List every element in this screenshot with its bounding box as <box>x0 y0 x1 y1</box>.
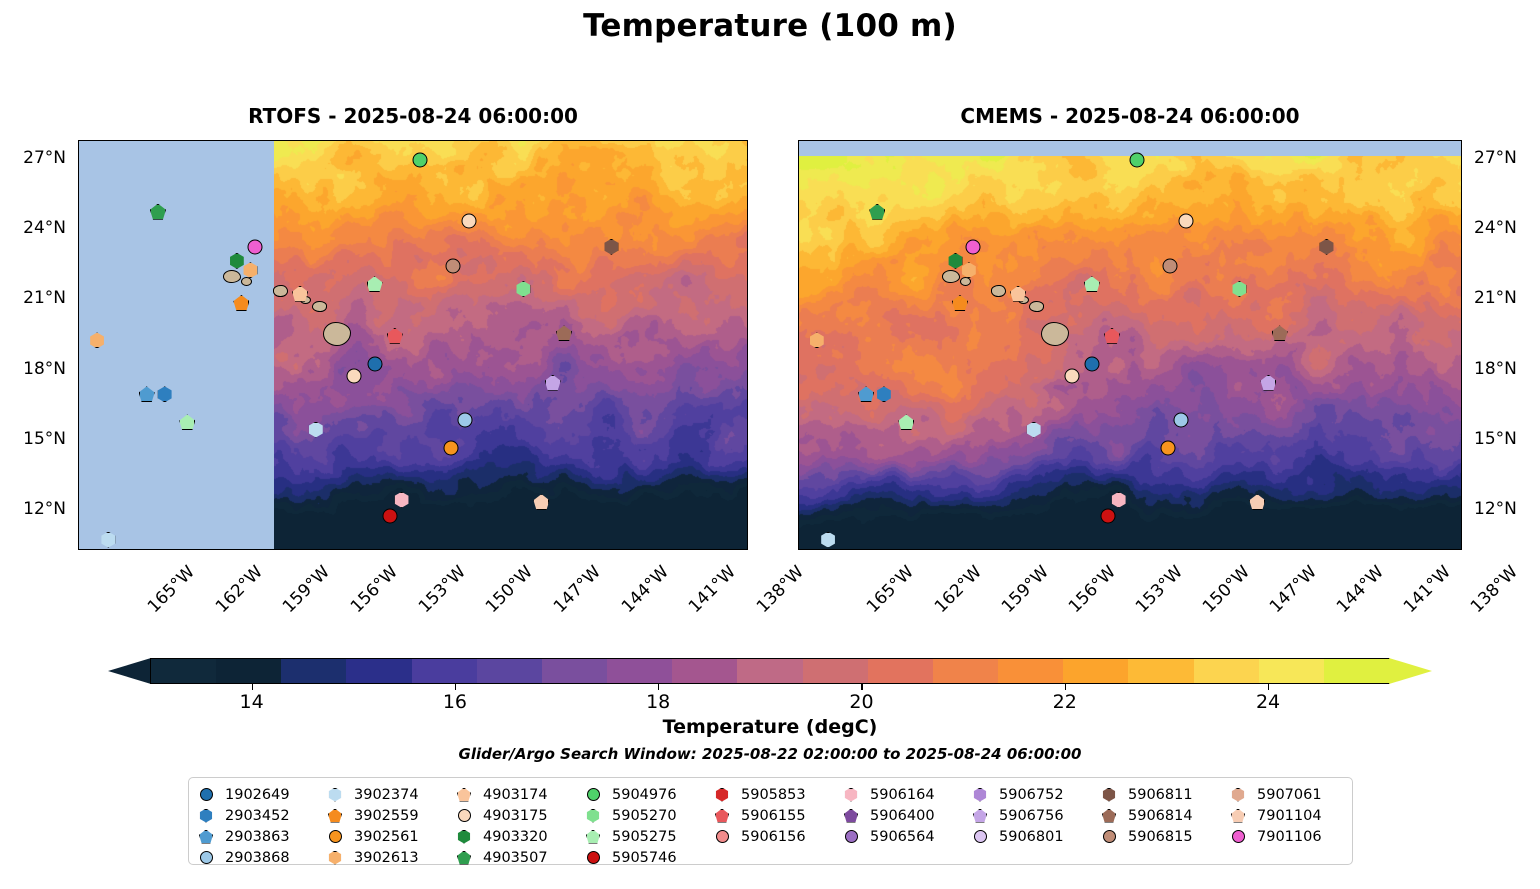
legend-item[interactable]: 5906811 <box>1100 784 1229 805</box>
legend-marker <box>842 809 860 823</box>
x-minor-tick <box>1201 549 1202 550</box>
platform-marker[interactable] <box>1084 356 1099 375</box>
x-minor-tick <box>733 549 734 550</box>
colorbar-band <box>1324 659 1389 683</box>
platform-marker[interactable] <box>809 332 825 352</box>
y-minor-tick <box>1461 182 1462 183</box>
legend-marker <box>842 830 860 843</box>
marker-pent <box>1102 809 1116 823</box>
x-minor-tick <box>888 140 889 141</box>
y-tick <box>798 159 799 161</box>
marker-circle <box>457 413 472 428</box>
legend-item-label: 3902374 <box>354 787 419 803</box>
marker-circle <box>200 851 213 864</box>
x-axis-label: 162°W <box>211 562 266 617</box>
x-minor-tick <box>642 549 643 550</box>
legend-item[interactable]: 5905270 <box>584 805 713 826</box>
y-minor-tick <box>798 487 799 488</box>
platform-marker[interactable] <box>387 328 403 348</box>
x-minor-tick <box>642 140 643 141</box>
x-minor-tick <box>821 140 822 141</box>
legend-item-label: 7901104 <box>1257 808 1322 824</box>
x-minor-tick <box>304 140 305 141</box>
y-tick <box>747 300 748 302</box>
platform-marker[interactable] <box>247 239 262 258</box>
x-minor-tick <box>733 140 734 141</box>
platform-marker[interactable] <box>1163 258 1178 277</box>
marker-circle <box>247 239 262 254</box>
legend-item-label: 4903507 <box>483 850 548 866</box>
platform-marker[interactable] <box>533 494 549 514</box>
platform-marker[interactable] <box>347 368 362 387</box>
x-tick <box>121 140 123 141</box>
colorbar-gradient <box>150 658 1390 684</box>
marker-circle <box>716 830 729 843</box>
y-tick <box>1461 370 1462 372</box>
platform-marker[interactable] <box>1026 422 1042 442</box>
legend-item[interactable]: 3902559 <box>326 805 455 826</box>
y-minor-tick <box>747 417 748 418</box>
legend-item-label: 5906815 <box>1128 829 1193 845</box>
x-minor-tick <box>1245 549 1246 550</box>
legend-item[interactable]: 5906155 <box>713 805 842 826</box>
x-minor-tick <box>687 140 688 141</box>
legend-item-label: 7901106 <box>1257 829 1322 845</box>
legend-item[interactable]: 5906564 <box>842 826 971 847</box>
x-minor-tick <box>977 549 978 550</box>
platform-marker[interactable] <box>1084 276 1100 296</box>
platform-marker[interactable] <box>1231 281 1247 301</box>
x-tick <box>324 140 326 141</box>
legend-item[interactable]: 5906756 <box>971 805 1100 826</box>
legend-item[interactable]: 2903452 <box>197 805 326 826</box>
x-axis-label: 156°W <box>347 562 402 617</box>
map-panel-cmems[interactable] <box>798 140 1462 550</box>
temperature-field-rtofs <box>79 141 747 549</box>
colorbar-band <box>412 659 477 683</box>
platform-marker[interactable] <box>545 375 561 395</box>
legend-item[interactable]: 7901106 <box>1229 826 1358 847</box>
legend-item[interactable]: 2903868 <box>197 847 326 868</box>
legend-item[interactable]: 3902613 <box>326 847 455 868</box>
legend-marker <box>326 851 344 865</box>
platform-marker[interactable] <box>556 325 572 345</box>
x-axis-label: 144°W <box>1333 562 1388 617</box>
y-minor-tick <box>78 206 79 207</box>
platform-marker[interactable] <box>1160 441 1175 460</box>
x-minor-tick <box>575 140 576 141</box>
x-axis-label: 141°W <box>685 562 740 617</box>
platform-marker[interactable] <box>150 204 166 224</box>
y-minor-tick <box>78 534 79 535</box>
x-tick <box>121 549 123 550</box>
y-minor-tick <box>747 206 748 207</box>
x-minor-tick <box>326 140 327 141</box>
platform-marker[interactable] <box>139 386 155 406</box>
marker-circle <box>1160 441 1175 456</box>
legend-grid: 1902649290345229038632903868390237439025… <box>197 784 1358 868</box>
y-tick <box>1461 440 1462 442</box>
platform-marker[interactable] <box>876 386 892 406</box>
y-minor-tick <box>747 276 748 277</box>
marker-hex <box>603 239 619 255</box>
legend-item[interactable]: 5907061 <box>1229 784 1358 805</box>
legend-item[interactable]: 4903320 <box>455 826 584 847</box>
x-minor-tick <box>597 140 598 141</box>
x-axis-label: 156°W <box>1065 562 1120 617</box>
x-minor-tick <box>620 140 621 141</box>
legend-item[interactable]: 5906400 <box>842 805 971 826</box>
legend-item-label: 5906801 <box>999 829 1064 845</box>
x-axis-label: 138°W <box>753 562 808 617</box>
platform-marker[interactable] <box>446 258 461 277</box>
marker-pent <box>292 286 308 302</box>
legend-item[interactable]: 5906801 <box>971 826 1100 847</box>
marker-hex <box>308 422 324 438</box>
legend-column: 5904976590527059052755905746 <box>584 784 713 868</box>
legend-marker <box>1229 809 1247 823</box>
x-minor-tick <box>529 140 530 141</box>
x-minor-tick <box>484 549 485 550</box>
x-minor-tick <box>349 140 350 141</box>
y-tick <box>798 510 799 512</box>
colorbar-tick <box>1065 684 1066 690</box>
x-tick <box>730 549 732 550</box>
x-minor-tick <box>1156 140 1157 141</box>
legend-marker <box>197 788 215 801</box>
x-minor-tick <box>123 140 124 141</box>
legend-item[interactable]: 5906156 <box>713 826 842 847</box>
legend-item[interactable]: 5904976 <box>584 784 713 805</box>
x-minor-tick <box>214 140 215 141</box>
legend-marker <box>584 851 602 864</box>
platform-marker[interactable] <box>869 204 885 224</box>
x-minor-tick <box>888 549 889 550</box>
marker-hex <box>157 386 173 402</box>
marker-circle <box>1103 830 1116 843</box>
marker-hex <box>394 492 410 508</box>
x-minor-tick <box>1223 140 1224 141</box>
x-tick <box>1377 140 1379 141</box>
legend-item[interactable]: 7901104 <box>1229 805 1358 826</box>
marker-circle <box>966 239 981 254</box>
marker-hex <box>1231 281 1247 297</box>
platform-marker[interactable] <box>515 281 531 301</box>
page-title: Temperature (100 m) <box>0 8 1540 44</box>
x-minor-tick <box>821 549 822 550</box>
legend-item[interactable]: 4903174 <box>455 784 584 805</box>
marker-hex <box>242 262 258 278</box>
y-minor-tick <box>747 323 748 324</box>
platform-marker[interactable] <box>1272 325 1288 345</box>
x-minor-tick <box>462 549 463 550</box>
y-axis-label: 18°N <box>1474 359 1517 379</box>
legend-item[interactable]: 5906752 <box>971 784 1100 805</box>
platform-marker[interactable] <box>462 214 477 233</box>
x-tick <box>1243 549 1245 550</box>
marker-pent <box>1104 328 1120 344</box>
x-minor-tick <box>529 549 530 550</box>
y-tick <box>798 440 799 442</box>
marker-hex <box>89 332 105 348</box>
x-minor-tick <box>1022 140 1023 141</box>
platform-marker[interactable] <box>1174 413 1189 432</box>
legend-item[interactable]: 4903175 <box>455 805 584 826</box>
x-tick <box>1109 549 1111 550</box>
platform-marker[interactable] <box>966 239 981 258</box>
x-tick <box>1042 549 1044 550</box>
platform-marker[interactable] <box>100 532 116 550</box>
legend-column: 4903174490317549033204903507 <box>455 784 584 868</box>
platform-marker[interactable] <box>898 414 914 434</box>
marker-hex <box>1319 239 1335 255</box>
colorbar-band <box>1128 659 1193 683</box>
y-axis-label: 15°N <box>0 429 66 449</box>
x-minor-tick <box>123 549 124 550</box>
legend-item-label: 3902561 <box>354 829 419 845</box>
x-minor-tick <box>304 549 305 550</box>
marker-pent <box>1260 375 1276 391</box>
x-tick <box>1444 549 1446 550</box>
x-minor-tick <box>1402 140 1403 141</box>
x-minor-tick <box>191 140 192 141</box>
legend-marker <box>1100 809 1118 823</box>
platform-legend[interactable]: 1902649290345229038632903868390237439025… <box>188 777 1353 865</box>
x-minor-tick <box>101 549 102 550</box>
legend-item-label: 5905853 <box>741 787 806 803</box>
platform-marker[interactable] <box>89 332 105 352</box>
legend-item[interactable]: 5905275 <box>584 826 713 847</box>
y-minor-tick <box>747 393 748 394</box>
colorbar-band <box>672 659 737 683</box>
marker-pent <box>1010 286 1026 302</box>
platform-marker[interactable] <box>1260 375 1276 395</box>
x-minor-tick <box>101 140 102 141</box>
marker-hex <box>809 332 825 348</box>
x-minor-tick <box>417 140 418 141</box>
y-axis-label: 21°N <box>0 288 66 308</box>
platform-marker[interactable] <box>383 509 398 528</box>
platform-marker[interactable] <box>367 356 382 375</box>
x-minor-tick <box>1424 549 1425 550</box>
y-tick <box>747 510 748 512</box>
platform-marker[interactable] <box>179 414 195 434</box>
x-minor-tick <box>1111 549 1112 550</box>
colorbar-tick <box>658 684 659 690</box>
x-minor-tick <box>1447 549 1448 550</box>
marker-circle <box>1100 509 1115 524</box>
colorbar-band <box>998 659 1063 683</box>
marker-pent <box>973 809 987 823</box>
y-minor-tick <box>78 182 79 183</box>
platform-marker[interactable] <box>1010 286 1026 306</box>
legend-item[interactable]: 3902561 <box>326 826 455 847</box>
platform-marker[interactable] <box>1104 328 1120 348</box>
legend-item[interactable]: 5906815 <box>1100 826 1229 847</box>
x-tick <box>256 140 258 141</box>
legend-item[interactable]: 3902374 <box>326 784 455 805</box>
x-minor-tick <box>507 549 508 550</box>
x-minor-tick <box>1290 549 1291 550</box>
platform-marker[interactable] <box>444 441 459 460</box>
y-axis-label: 18°N <box>0 359 66 379</box>
legend-marker <box>326 788 344 802</box>
y-minor-tick <box>78 393 79 394</box>
platform-marker[interactable] <box>1178 214 1193 233</box>
marker-pent <box>869 204 885 220</box>
platform-marker[interactable] <box>367 276 383 296</box>
x-minor-tick <box>1290 140 1291 141</box>
marker-pent <box>545 375 561 391</box>
x-tick <box>324 549 326 550</box>
platform-marker[interactable] <box>457 413 472 432</box>
legend-marker <box>584 788 602 801</box>
legend-item[interactable]: 5905746 <box>584 847 713 868</box>
colorbar-band <box>868 659 933 683</box>
y-minor-tick <box>747 253 748 254</box>
legend-item[interactable]: 5905853 <box>713 784 842 805</box>
x-minor-tick <box>1268 140 1269 141</box>
legend-item-label: 5906564 <box>870 829 935 845</box>
marker-pent <box>1249 494 1265 510</box>
x-minor-tick <box>910 140 911 141</box>
marker-hex <box>100 532 116 548</box>
marker-hex <box>1026 422 1042 438</box>
colorbar-band <box>477 659 542 683</box>
search-window-subtitle: Glider/Argo Search Window: 2025-08-22 02… <box>0 745 1540 763</box>
legend-item-label: 2903868 <box>225 850 290 866</box>
platform-marker[interactable] <box>603 239 619 259</box>
y-minor-tick <box>1461 487 1462 488</box>
y-minor-tick <box>747 182 748 183</box>
legend-marker <box>455 830 473 844</box>
legend-item-label: 5907061 <box>1257 787 1322 803</box>
marker-pent <box>858 386 874 402</box>
x-minor-tick <box>1044 140 1045 141</box>
y-minor-tick <box>747 464 748 465</box>
legend-item-label: 5906814 <box>1128 808 1193 824</box>
x-tick <box>189 140 191 141</box>
platform-marker[interactable] <box>961 262 977 282</box>
x-minor-tick <box>865 140 866 141</box>
platform-marker[interactable] <box>242 262 258 282</box>
x-minor-tick <box>1335 140 1336 141</box>
x-minor-tick <box>349 549 350 550</box>
marker-hex <box>586 809 600 823</box>
x-minor-tick <box>1357 549 1358 550</box>
platform-marker[interactable] <box>1319 239 1335 259</box>
y-axis-label: 27°N <box>1474 148 1517 168</box>
marker-pent <box>1231 809 1245 823</box>
marker-pent <box>1272 325 1288 341</box>
colorbar-band <box>151 659 216 683</box>
y-minor-tick <box>1461 393 1462 394</box>
marker-circle <box>1084 356 1099 371</box>
x-minor-tick <box>372 140 373 141</box>
marker-circle <box>329 830 342 843</box>
x-tick <box>595 140 597 141</box>
platform-marker[interactable] <box>1249 494 1265 514</box>
platform-marker[interactable] <box>233 295 249 315</box>
y-tick <box>1461 159 1462 161</box>
legend-item[interactable]: 4903507 <box>455 847 584 868</box>
x-minor-tick <box>507 140 508 141</box>
y-tick <box>78 229 79 231</box>
x-axis-label: 159°W <box>998 562 1053 617</box>
x-minor-tick <box>394 140 395 141</box>
platform-marker[interactable] <box>952 295 968 315</box>
colorbar-tick-label: 24 <box>1256 691 1280 713</box>
marker-pent <box>179 414 195 430</box>
platform-marker[interactable] <box>1129 153 1144 172</box>
platform-marker[interactable] <box>820 532 836 550</box>
x-minor-tick <box>710 140 711 141</box>
y-minor-tick <box>78 487 79 488</box>
x-axis-label: 150°W <box>1199 562 1254 617</box>
x-minor-tick <box>169 549 170 550</box>
island-landmass <box>312 301 327 312</box>
x-axis-label: 147°W <box>550 562 605 617</box>
platform-marker[interactable] <box>1064 368 1079 387</box>
legend-item[interactable]: 5906164 <box>842 784 971 805</box>
y-axis-label: 21°N <box>1474 288 1517 308</box>
x-minor-tick <box>439 140 440 141</box>
x-minor-tick <box>710 549 711 550</box>
marker-pent <box>199 830 213 844</box>
marker-circle <box>587 851 600 864</box>
x-minor-tick <box>955 549 956 550</box>
marker-pent <box>387 328 403 344</box>
platform-marker[interactable] <box>412 153 427 172</box>
y-minor-tick <box>78 253 79 254</box>
platform-marker[interactable] <box>308 422 324 442</box>
y-minor-tick <box>1461 464 1462 465</box>
legend-marker <box>326 830 344 843</box>
platform-marker[interactable] <box>157 386 173 406</box>
marker-hex <box>1102 788 1116 802</box>
colorbar-band <box>737 659 802 683</box>
x-minor-tick <box>1402 549 1403 550</box>
platform-marker[interactable] <box>292 286 308 306</box>
legend-marker <box>1100 788 1118 802</box>
x-minor-tick <box>417 549 418 550</box>
x-minor-tick <box>236 140 237 141</box>
platform-marker[interactable] <box>858 386 874 406</box>
marker-pent <box>898 414 914 430</box>
marker-pent <box>328 809 342 823</box>
x-minor-tick <box>281 140 282 141</box>
legend-item-label: 5906756 <box>999 808 1064 824</box>
platform-marker[interactable] <box>1100 509 1115 528</box>
y-minor-tick <box>1461 206 1462 207</box>
map-panel-rtofs[interactable] <box>78 140 748 550</box>
x-axis-label: 159°W <box>279 562 334 617</box>
y-tick <box>78 440 79 442</box>
y-axis-label: 27°N <box>0 148 66 168</box>
y-minor-tick <box>1461 323 1462 324</box>
legend-item-label: 3902613 <box>354 850 419 866</box>
colorbar-tick <box>1268 684 1269 690</box>
x-minor-tick <box>932 140 933 141</box>
marker-pent <box>556 325 572 341</box>
marker-pent <box>457 851 471 865</box>
legend-item[interactable]: 2903863 <box>197 826 326 847</box>
y-minor-tick <box>1461 253 1462 254</box>
legend-item[interactable]: 1902649 <box>197 784 326 805</box>
x-minor-tick <box>1335 549 1336 550</box>
legend-item[interactable]: 5906814 <box>1100 805 1229 826</box>
legend-marker <box>713 788 731 802</box>
